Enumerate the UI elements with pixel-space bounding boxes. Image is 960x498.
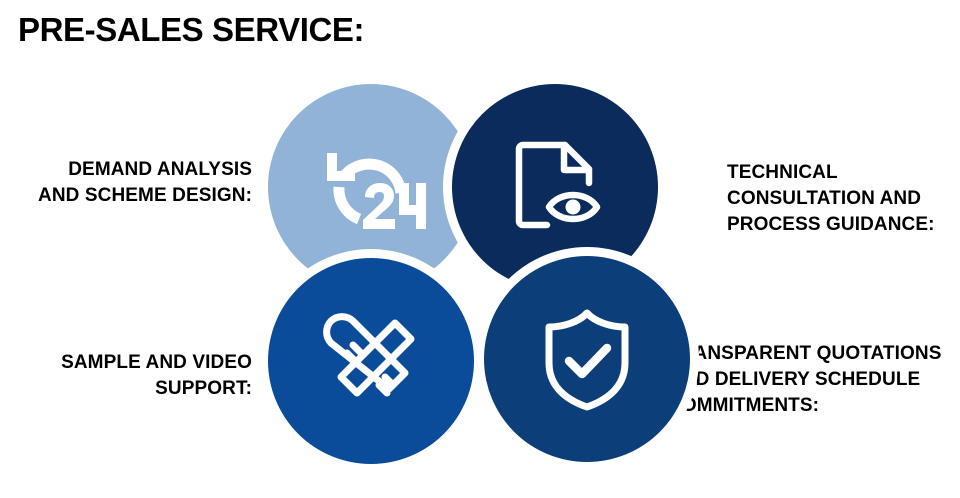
label-line: COMMITMENTS:	[668, 393, 960, 419]
label-line: AND DELIVERY SCHEDULE	[668, 367, 960, 393]
pen-ruler-icon	[317, 307, 425, 415]
document-eye-icon	[503, 135, 607, 239]
label-line: DEMAND ANALYSIS	[10, 157, 252, 183]
label-transparent-quotations: TRANSPARENT QUOTATIONS AND DELIVERY SCHE…	[668, 341, 960, 418]
circle-sample-video-support	[268, 258, 474, 464]
label-line: CONSULTATION AND	[727, 186, 955, 212]
clock-24-arrow-icon	[315, 135, 427, 239]
circle-transparent-quotations	[484, 256, 690, 462]
label-line: AND SCHEME DESIGN:	[10, 183, 252, 209]
label-line: TRANSPARENT QUOTATIONS	[668, 341, 960, 367]
page-title: PRE-SALES SERVICE:	[18, 12, 364, 48]
label-sample-video-support: SAMPLE AND VIDEO SUPPORT:	[10, 350, 252, 402]
label-technical-consultation: TECHNICAL CONSULTATION AND PROCESS GUIDA…	[727, 160, 955, 237]
label-demand-analysis: DEMAND ANALYSIS AND SCHEME DESIGN:	[10, 157, 252, 209]
label-line: SAMPLE AND VIDEO	[10, 350, 252, 376]
infographic-canvas: PRE-SALES SERVICE: DEMAND ANALYSIS AND S…	[0, 0, 960, 498]
label-line: PROCESS GUIDANCE:	[727, 212, 955, 238]
shield-check-icon	[537, 305, 637, 413]
circle-technical-consultation	[452, 84, 658, 290]
label-line: TECHNICAL	[727, 160, 955, 186]
label-line: SUPPORT:	[10, 376, 252, 402]
circle-cluster	[262, 80, 662, 468]
